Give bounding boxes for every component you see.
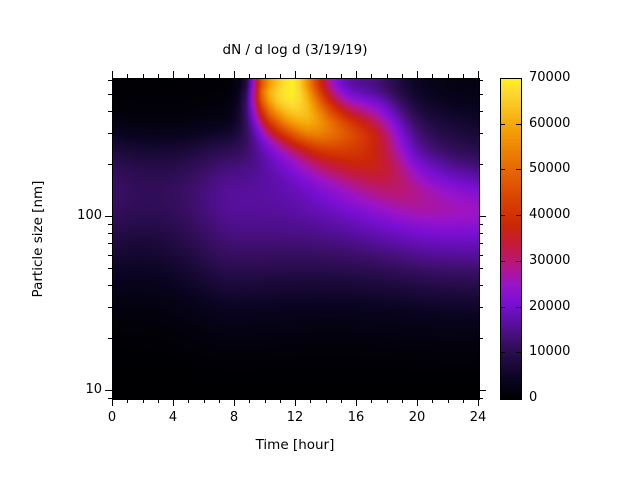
x-axis-minor-tick [265, 399, 266, 403]
x-axis-minor-tick [326, 74, 327, 78]
x-axis-major-tick [173, 71, 174, 78]
x-axis-minor-tick [326, 399, 327, 403]
colorbar-tick [500, 307, 505, 308]
colorbar-tick [500, 124, 505, 125]
colorbar-tick [500, 352, 505, 353]
colorbar-tick [500, 215, 505, 216]
y-axis-tick-label: 10 [60, 382, 102, 397]
heatmap-figure: dN / d log d (3/19/19) 04812162024 10100… [0, 0, 640, 480]
y-axis-minor-tick [479, 285, 483, 286]
colorbar-tick-label: 70000 [529, 70, 570, 85]
x-axis-major-tick [417, 71, 418, 78]
x-axis-tick-label: 20 [397, 410, 437, 425]
x-axis-minor-tick [127, 74, 128, 78]
y-axis-minor-tick [479, 338, 483, 339]
x-axis-minor-tick [265, 74, 266, 78]
colorbar-tick [516, 261, 521, 262]
y-axis-minor-tick [108, 268, 112, 269]
colorbar-tick [516, 352, 521, 353]
y-axis-minor-tick [479, 133, 483, 134]
x-axis-minor-tick [463, 399, 464, 403]
page-title: dN / d log d (3/19/19) [112, 42, 478, 58]
colorbar-tick [516, 307, 521, 308]
colorbar-gradient [501, 79, 521, 399]
y-axis-minor-tick [479, 111, 483, 112]
y-axis-major-tick [479, 390, 486, 391]
y-axis-minor-tick [479, 224, 483, 225]
x-axis-minor-tick [448, 74, 449, 78]
y-axis-minor-tick [108, 307, 112, 308]
y-axis-minor-tick [479, 243, 483, 244]
y-axis-minor-tick [108, 243, 112, 244]
y-axis-minor-tick [108, 224, 112, 225]
x-axis-major-tick [112, 71, 113, 78]
y-axis-minor-tick [479, 398, 483, 399]
y-axis-minor-tick [479, 164, 483, 165]
x-axis-minor-tick [127, 399, 128, 403]
y-axis-major-tick [105, 390, 112, 391]
x-axis-minor-tick [387, 74, 388, 78]
x-axis-tick-label: 4 [153, 410, 193, 425]
x-axis-major-tick [356, 71, 357, 78]
x-axis-tick-label: 12 [275, 410, 315, 425]
heatmap-plot-area [112, 78, 480, 400]
x-axis-major-tick [234, 71, 235, 78]
x-axis-major-tick [234, 399, 235, 406]
colorbar-tick-label: 50000 [529, 161, 570, 176]
colorbar-tick-label: 20000 [529, 299, 570, 314]
x-axis-major-tick [295, 399, 296, 406]
x-axis-minor-tick [402, 74, 403, 78]
colorbar-tick [500, 169, 505, 170]
y-axis-minor-tick [479, 255, 483, 256]
x-axis-minor-tick [402, 399, 403, 403]
x-axis-tick-label: 24 [458, 410, 498, 425]
y-axis-minor-tick [108, 233, 112, 234]
y-axis-tick-label: 100 [60, 208, 102, 223]
y-axis-minor-tick [479, 268, 483, 269]
colorbar-tick-label: 30000 [529, 253, 570, 268]
x-axis-minor-tick [219, 74, 220, 78]
colorbar-tick-label: 60000 [529, 116, 570, 131]
x-axis-minor-tick [188, 399, 189, 403]
x-axis-minor-tick [219, 399, 220, 403]
colorbar-tick-label: 10000 [529, 344, 570, 359]
x-axis-minor-tick [341, 399, 342, 403]
colorbar-tick [516, 169, 521, 170]
y-axis-minor-tick [108, 94, 112, 95]
y-axis-minor-tick [108, 338, 112, 339]
x-axis-major-tick [173, 399, 174, 406]
x-axis-minor-tick [280, 74, 281, 78]
y-axis-minor-tick [108, 255, 112, 256]
y-axis-label: Particle size [nm] [30, 139, 46, 339]
x-axis-minor-tick [158, 74, 159, 78]
x-axis-minor-tick [143, 399, 144, 403]
x-axis-tick-label: 0 [92, 410, 132, 425]
x-axis-minor-tick [310, 74, 311, 78]
y-axis-minor-tick [108, 133, 112, 134]
x-axis-minor-tick [188, 74, 189, 78]
x-axis-minor-tick [341, 74, 342, 78]
x-axis-minor-tick [204, 74, 205, 78]
x-axis-major-tick [478, 399, 479, 406]
x-axis-minor-tick [249, 74, 250, 78]
x-axis-minor-tick [310, 399, 311, 403]
y-axis-major-tick [105, 216, 112, 217]
y-axis-minor-tick [479, 233, 483, 234]
x-axis-minor-tick [432, 74, 433, 78]
x-axis-minor-tick [463, 74, 464, 78]
x-axis-tick-label: 16 [336, 410, 376, 425]
y-axis-minor-tick [108, 164, 112, 165]
y-axis-minor-tick [108, 111, 112, 112]
y-axis-minor-tick [108, 80, 112, 81]
colorbar-tick [516, 124, 521, 125]
y-axis-minor-tick [108, 285, 112, 286]
heatmap-image [113, 79, 479, 399]
x-axis-minor-tick [387, 399, 388, 403]
x-axis-label: Time [hour] [112, 437, 478, 453]
y-axis-minor-tick [479, 80, 483, 81]
colorbar-tick-label: 40000 [529, 207, 570, 222]
x-axis-minor-tick [432, 399, 433, 403]
colorbar-tick [516, 215, 521, 216]
x-axis-tick-label: 8 [214, 410, 254, 425]
colorbar-tick [500, 261, 505, 262]
x-axis-minor-tick [204, 399, 205, 403]
x-axis-minor-tick [448, 399, 449, 403]
x-axis-major-tick [478, 71, 479, 78]
x-axis-major-tick [295, 71, 296, 78]
x-axis-minor-tick [371, 399, 372, 403]
x-axis-minor-tick [158, 399, 159, 403]
y-axis-minor-tick [479, 94, 483, 95]
colorbar-tick-label: 0 [529, 390, 537, 405]
x-axis-major-tick [417, 399, 418, 406]
x-axis-major-tick [356, 399, 357, 406]
y-axis-minor-tick [479, 307, 483, 308]
x-axis-minor-tick [249, 399, 250, 403]
y-axis-minor-tick [108, 398, 112, 399]
x-axis-major-tick [112, 399, 113, 406]
x-axis-minor-tick [143, 74, 144, 78]
y-axis-major-tick [479, 216, 486, 217]
x-axis-minor-tick [371, 74, 372, 78]
x-axis-minor-tick [280, 399, 281, 403]
